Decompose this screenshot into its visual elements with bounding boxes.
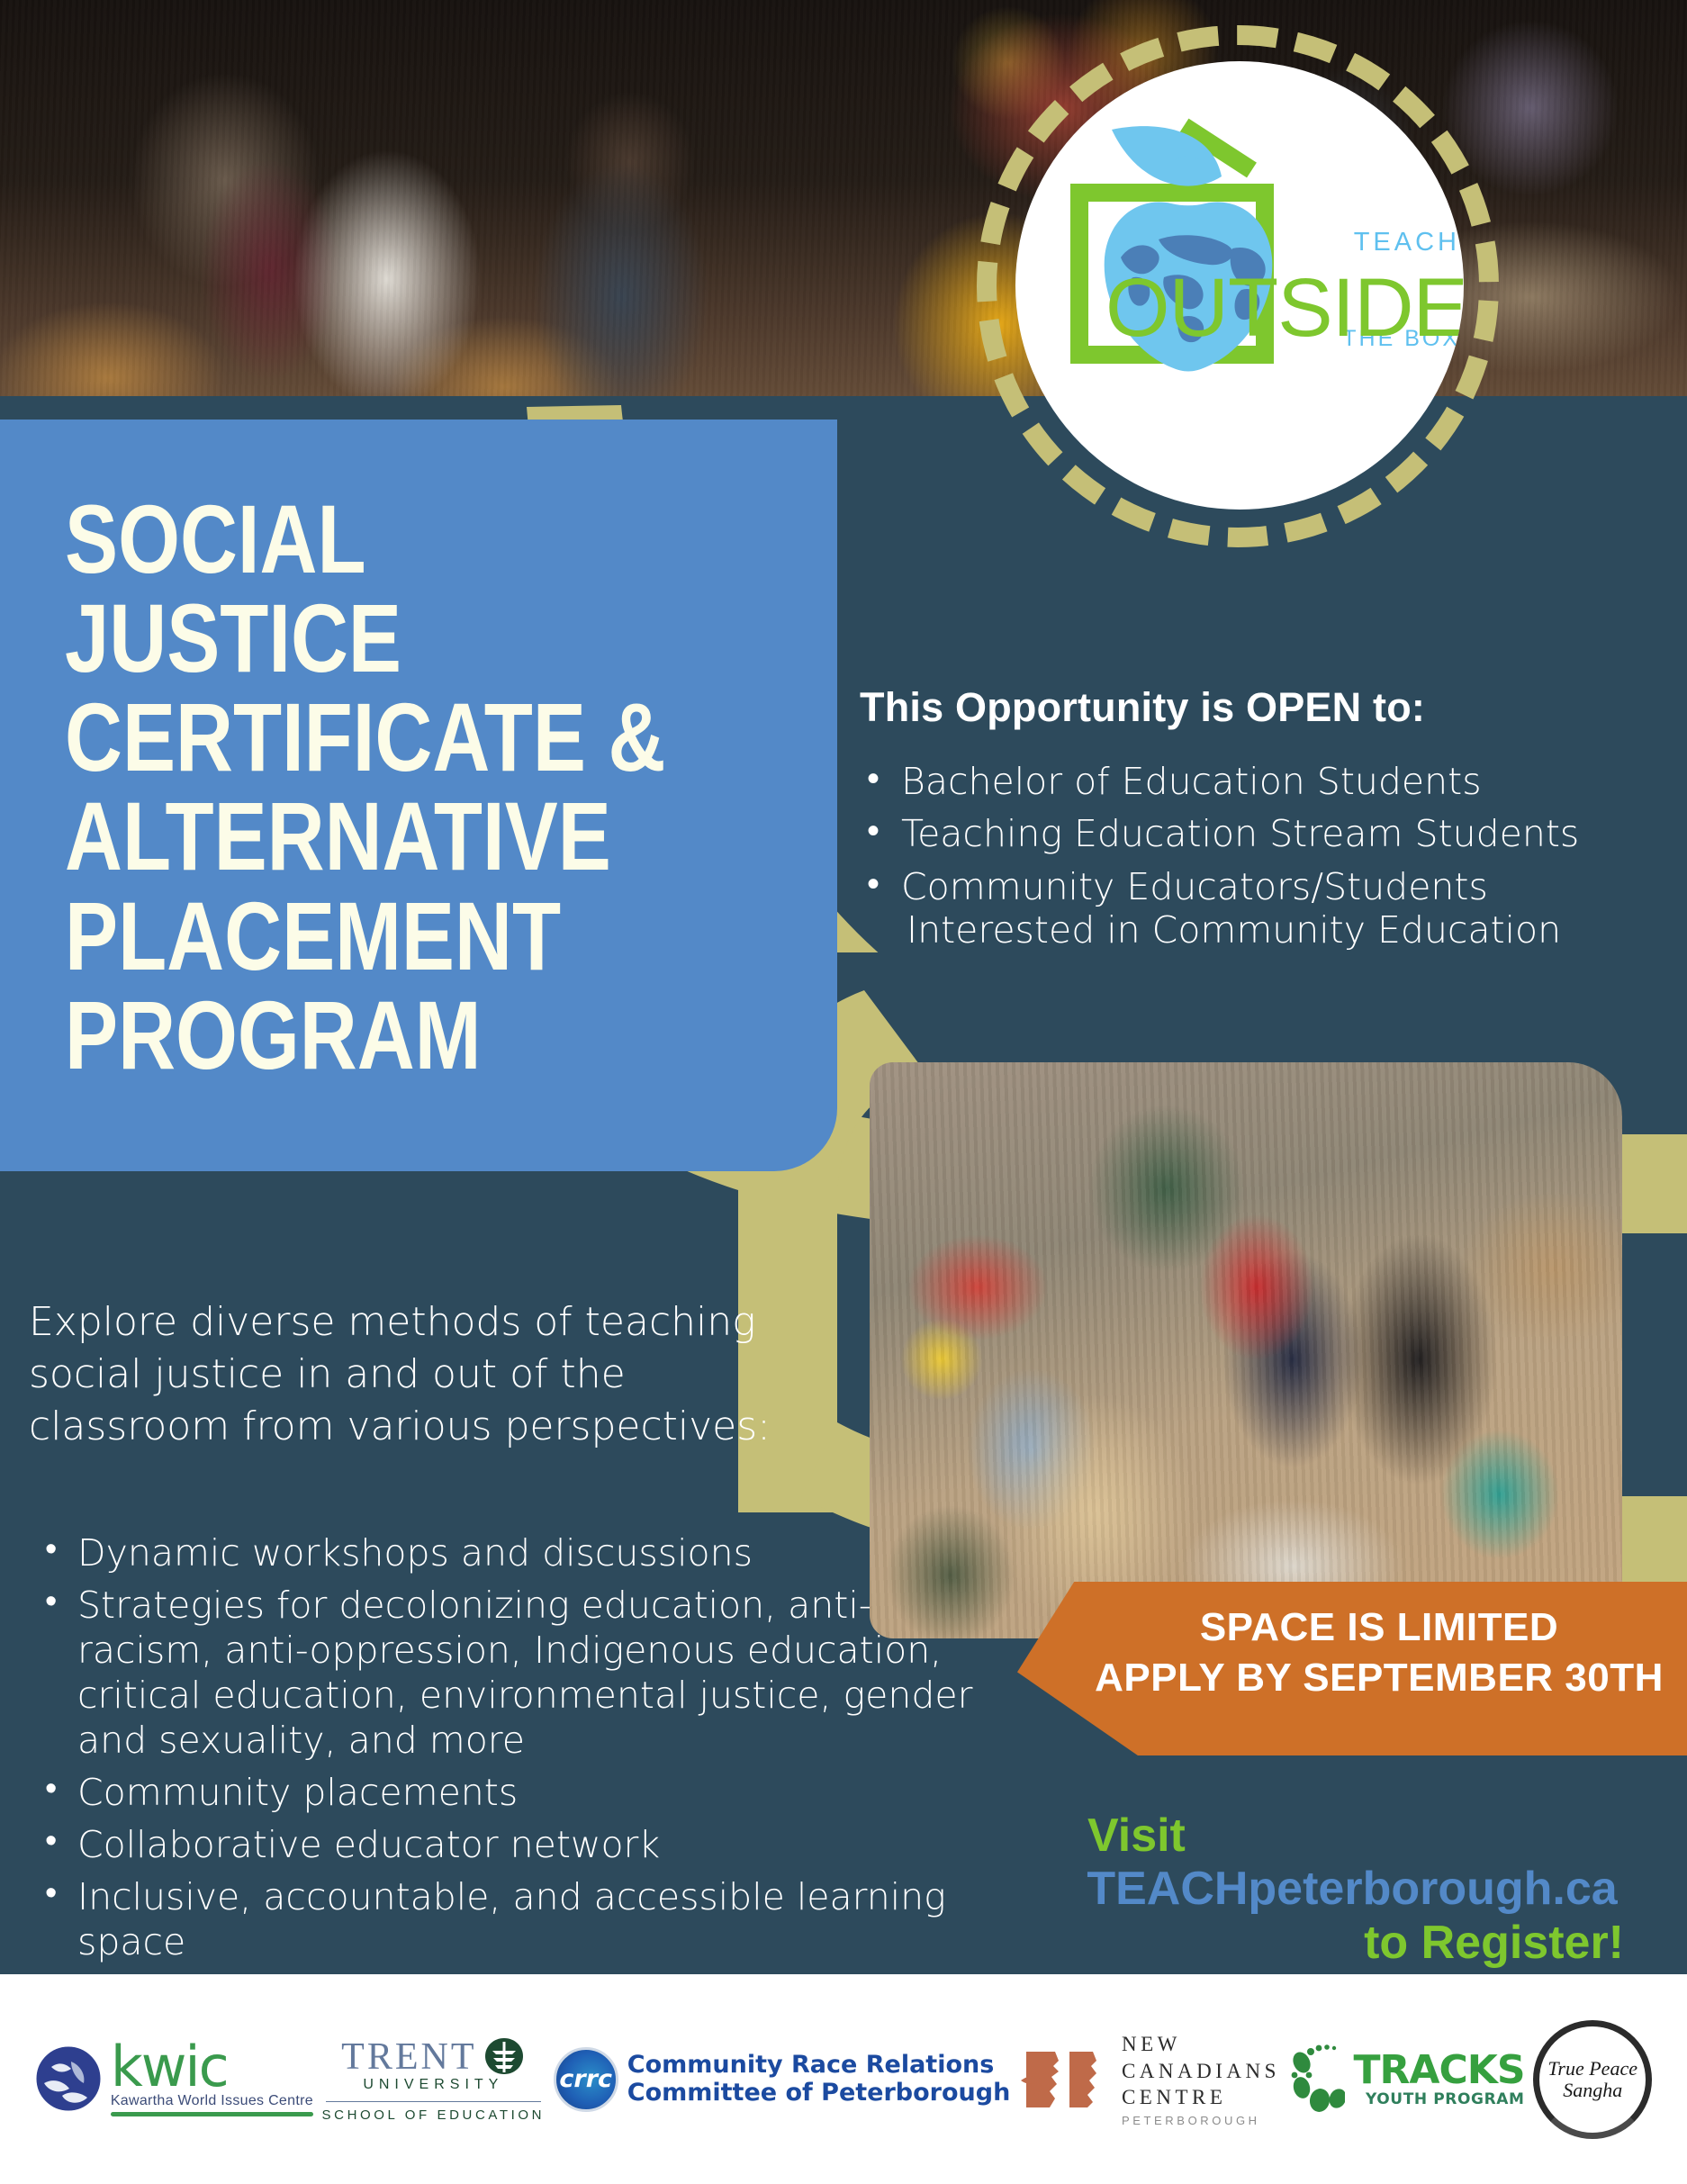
bullet-icon: • [45, 1819, 57, 1861]
globe-hands-icon [35, 2045, 102, 2112]
title-line-1: Social Justice [65, 490, 670, 688]
title-line-4: Placement [65, 887, 670, 986]
page-title: Social Justice Certificate & Alternative… [65, 490, 670, 1085]
ncc-line-2: CANADIANS [1122, 2058, 1280, 2084]
feature-text: Collaborative educator network [77, 1823, 660, 1866]
feature-text: Community placements [77, 1771, 518, 1814]
trent-tree-icon [483, 2036, 525, 2078]
list-item: •Collaborative educator network [36, 1822, 990, 1867]
crrc-badge: crrc [554, 2047, 618, 2112]
teach-outside-the-box-logo: TEACH THE BOX OUTSIDE [1015, 61, 1464, 510]
open-to-list: • Bachelor of Education Students • Teach… [860, 760, 1634, 952]
open-to-heading: This Opportunity is OPEN to: [860, 684, 1634, 731]
open-to-item-text: Teaching Education Stream Students [901, 812, 1579, 855]
logo-teach-label: TEACH [1302, 228, 1464, 257]
bullet-icon: • [45, 1872, 57, 1913]
tracks-logo: TRACKS YOUTH PROGRAM [1289, 2044, 1525, 2115]
partner-logos-footer: kwic Kawartha World Issues Centre TRENT … [0, 1974, 1687, 2184]
tracks-name: TRACKS [1354, 2051, 1525, 2090]
list-item: •Dynamic workshops and discussions [36, 1530, 990, 1575]
new-canadians-centre-logo: NEW CANADIANS CENTRE PETERBOROUGH [1019, 2031, 1280, 2126]
workshop-photo-right [870, 1062, 1622, 1638]
ncc-text: NEW CANADIANS CENTRE PETERBOROUGH [1122, 2031, 1280, 2126]
cta-visit-label: Visit [1026, 1809, 1678, 1863]
bullet-icon: • [867, 810, 880, 853]
cta-register-label: to Register! [1026, 1917, 1678, 1970]
title-line-3: Alternative [65, 787, 670, 886]
trent-school-label: SCHOOL OF EDUCATION [322, 2107, 546, 2123]
kwic-tagline: Kawartha World Issues Centre [111, 2093, 313, 2109]
feature-list: •Dynamic workshops and discussions •Stra… [36, 1530, 990, 1972]
banner-line-1: SPACE IS LIMITED [1017, 1605, 1687, 1650]
sangha-line-1: True Peace [1547, 2058, 1637, 2079]
list-item: •Inclusive, accountable, and accessible … [36, 1874, 990, 1964]
bullet-icon: • [45, 1767, 57, 1809]
tracks-text: TRACKS YOUTH PROGRAM [1354, 2051, 1525, 2108]
bullet-icon: • [867, 758, 880, 800]
deadline-banner: SPACE IS LIMITED APPLY BY SEPTEMBER 30TH [1017, 1582, 1687, 1755]
animal-tracks-icon [1289, 2044, 1345, 2115]
crrc-line-1: Community Race Relations [627, 2052, 1011, 2080]
bullet-icon: • [45, 1580, 57, 1621]
crrc-logo: crrc Community Race Relations Committee … [554, 2047, 1011, 2112]
title-line-5: Program [65, 986, 670, 1085]
two-faces-bird-icon [1019, 2044, 1113, 2115]
open-to-item-text: Community Educators/Students [901, 865, 1488, 908]
feature-text: Inclusive, accountable, and accessible l… [77, 1875, 946, 1963]
crrc-line-2: Committee of Peterborough [627, 2080, 1011, 2107]
list-item: • Teaching Education Stream Students [860, 812, 1634, 855]
open-to-item-subtext: Interested in Community Education [901, 908, 1634, 952]
kwic-underline [111, 2112, 313, 2116]
crrc-text: Community Race Relations Committee of Pe… [627, 2052, 1011, 2107]
tracks-sub: YOUTH PROGRAM [1354, 2090, 1525, 2108]
trent-university-logo: TRENT UNIVERSITY SCHOOL OF EDUCATION [322, 2035, 546, 2123]
ncc-line-1: NEW [1122, 2031, 1280, 2057]
feature-text: Dynamic workshops and discussions [77, 1531, 753, 1575]
register-cta: Visit TEACHpeterborough.ca to Register! [1026, 1809, 1678, 1970]
list-item: •Strategies for decolonizing education, … [36, 1583, 990, 1763]
banner-line-2: APPLY BY SEPTEMBER 30TH [1017, 1656, 1687, 1701]
sangha-line-2: Sangha [1563, 2080, 1622, 2100]
logo-outside-label: OUTSIDE [1105, 266, 1464, 349]
divider [326, 2101, 542, 2102]
trent-name: TRENT [341, 2035, 476, 2079]
title-line-2: Certificate & [65, 688, 670, 787]
kwic-text: kwic Kawartha World Issues Centre [111, 2042, 313, 2117]
open-to-block: This Opportunity is OPEN to: • Bachelor … [860, 684, 1634, 961]
intro-paragraph: Explore diverse methods of teaching soci… [29, 1296, 785, 1453]
cta-website-link[interactable]: TEACHpeterborough.ca [1026, 1863, 1678, 1916]
kwic-logo: kwic Kawartha World Issues Centre [35, 2042, 313, 2117]
open-to-item-text: Bachelor of Education Students [901, 760, 1482, 803]
poster-root: TEACH THE BOX OUTSIDE Social Justice Cer… [0, 0, 1687, 2184]
list-item: • Community Educators/Students Intereste… [860, 865, 1634, 952]
kwic-name: kwic [111, 2042, 313, 2092]
true-peace-sangha-logo: True Peace Sangha [1533, 2020, 1652, 2139]
list-item: •Community placements [36, 1770, 990, 1815]
ncc-city-label: PETERBOROUGH [1122, 2114, 1280, 2127]
bullet-icon: • [867, 863, 880, 906]
list-item: • Bachelor of Education Students [860, 760, 1634, 803]
trent-university-label: UNIVERSITY [322, 2077, 546, 2093]
bullet-icon: • [45, 1528, 57, 1569]
ncc-line-3: CENTRE [1122, 2084, 1280, 2110]
title-panel: Social Justice Certificate & Alternative… [0, 420, 837, 1171]
feature-text: Strategies for decolonizing education, a… [77, 1584, 972, 1762]
